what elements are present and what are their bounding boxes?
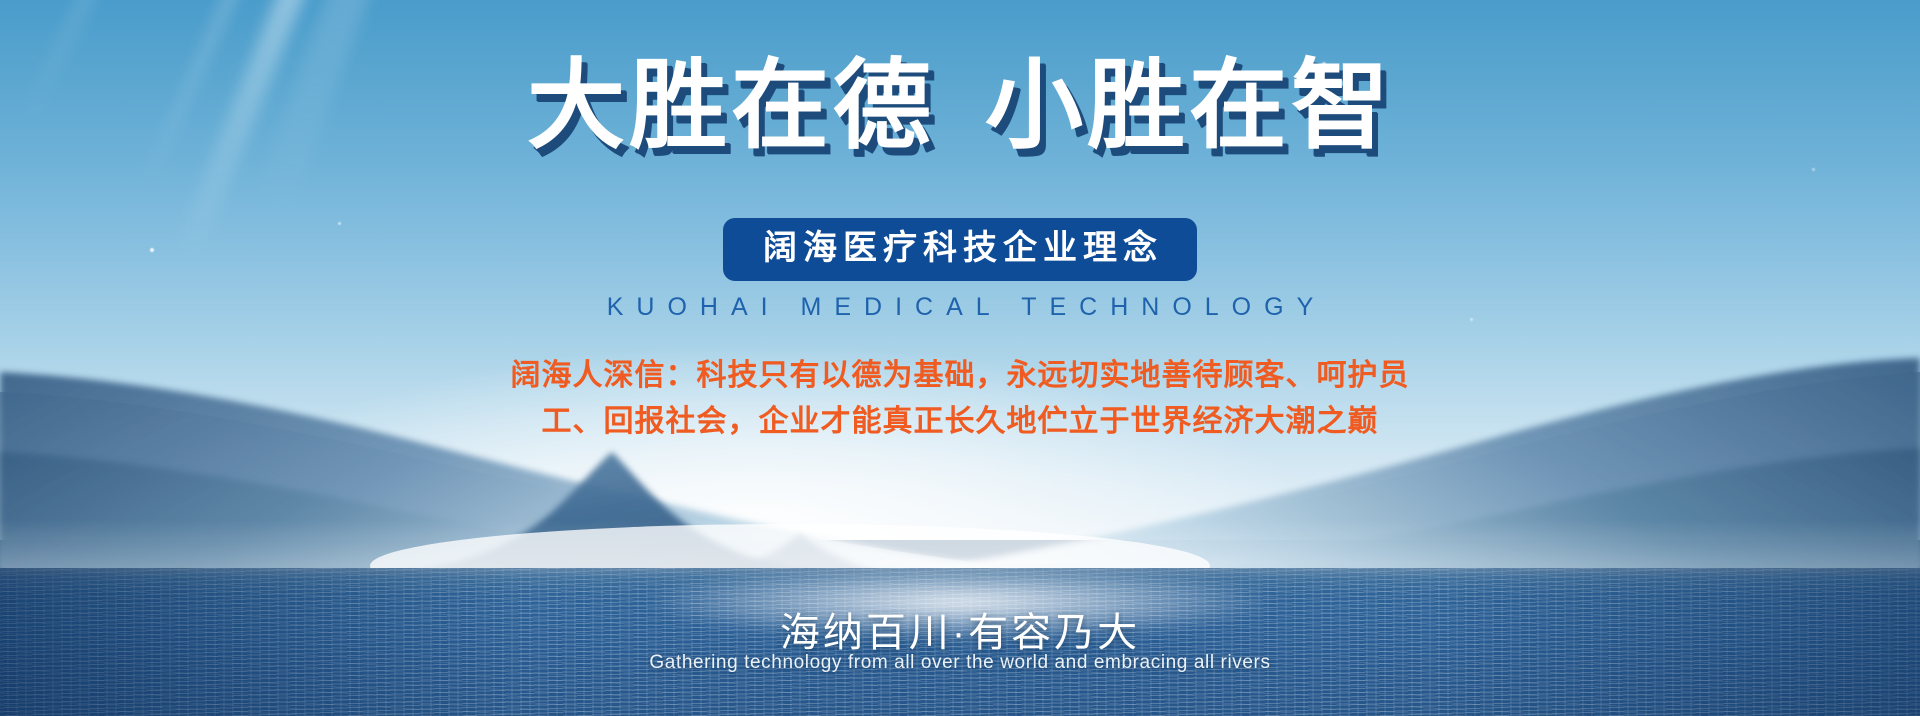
headline-part-1: 大胜在德 (527, 50, 935, 160)
banner-content: 大胜在德小胜在智 阔海医疗科技企业理念 KUOHAI MEDICAL TECHN… (0, 0, 1920, 716)
paragraph-line-1: 阔海人深信：科技只有以德为基础，永远切实地善待顾客、呵护员 (0, 353, 1920, 399)
page-title: 大胜在德小胜在智 (0, 48, 1920, 164)
footer-chinese-slogan: 海纳百川·有容乃大 (0, 600, 1920, 658)
philosophy-paragraph: 阔海人深信：科技只有以德为基础，永远切实地善待顾客、呵护员 工、回报社会，企业才… (0, 353, 1920, 445)
corporate-philosophy-banner: 大胜在德小胜在智 阔海医疗科技企业理念 KUOHAI MEDICAL TECHN… (0, 0, 1920, 716)
footer-english-slogan: Gathering technology from all over the w… (0, 652, 1920, 674)
headline-part-2: 小胜在智 (985, 50, 1393, 160)
english-subtitle: KUOHAI MEDICAL TECHNOLOGY (0, 293, 1920, 322)
paragraph-line-2: 工、回报社会，企业才能真正长久地伫立于世界经济大潮之巅 (0, 399, 1920, 445)
badge-container: 阔海医疗科技企业理念 (0, 218, 1920, 281)
philosophy-badge: 阔海医疗科技企业理念 (723, 218, 1197, 281)
